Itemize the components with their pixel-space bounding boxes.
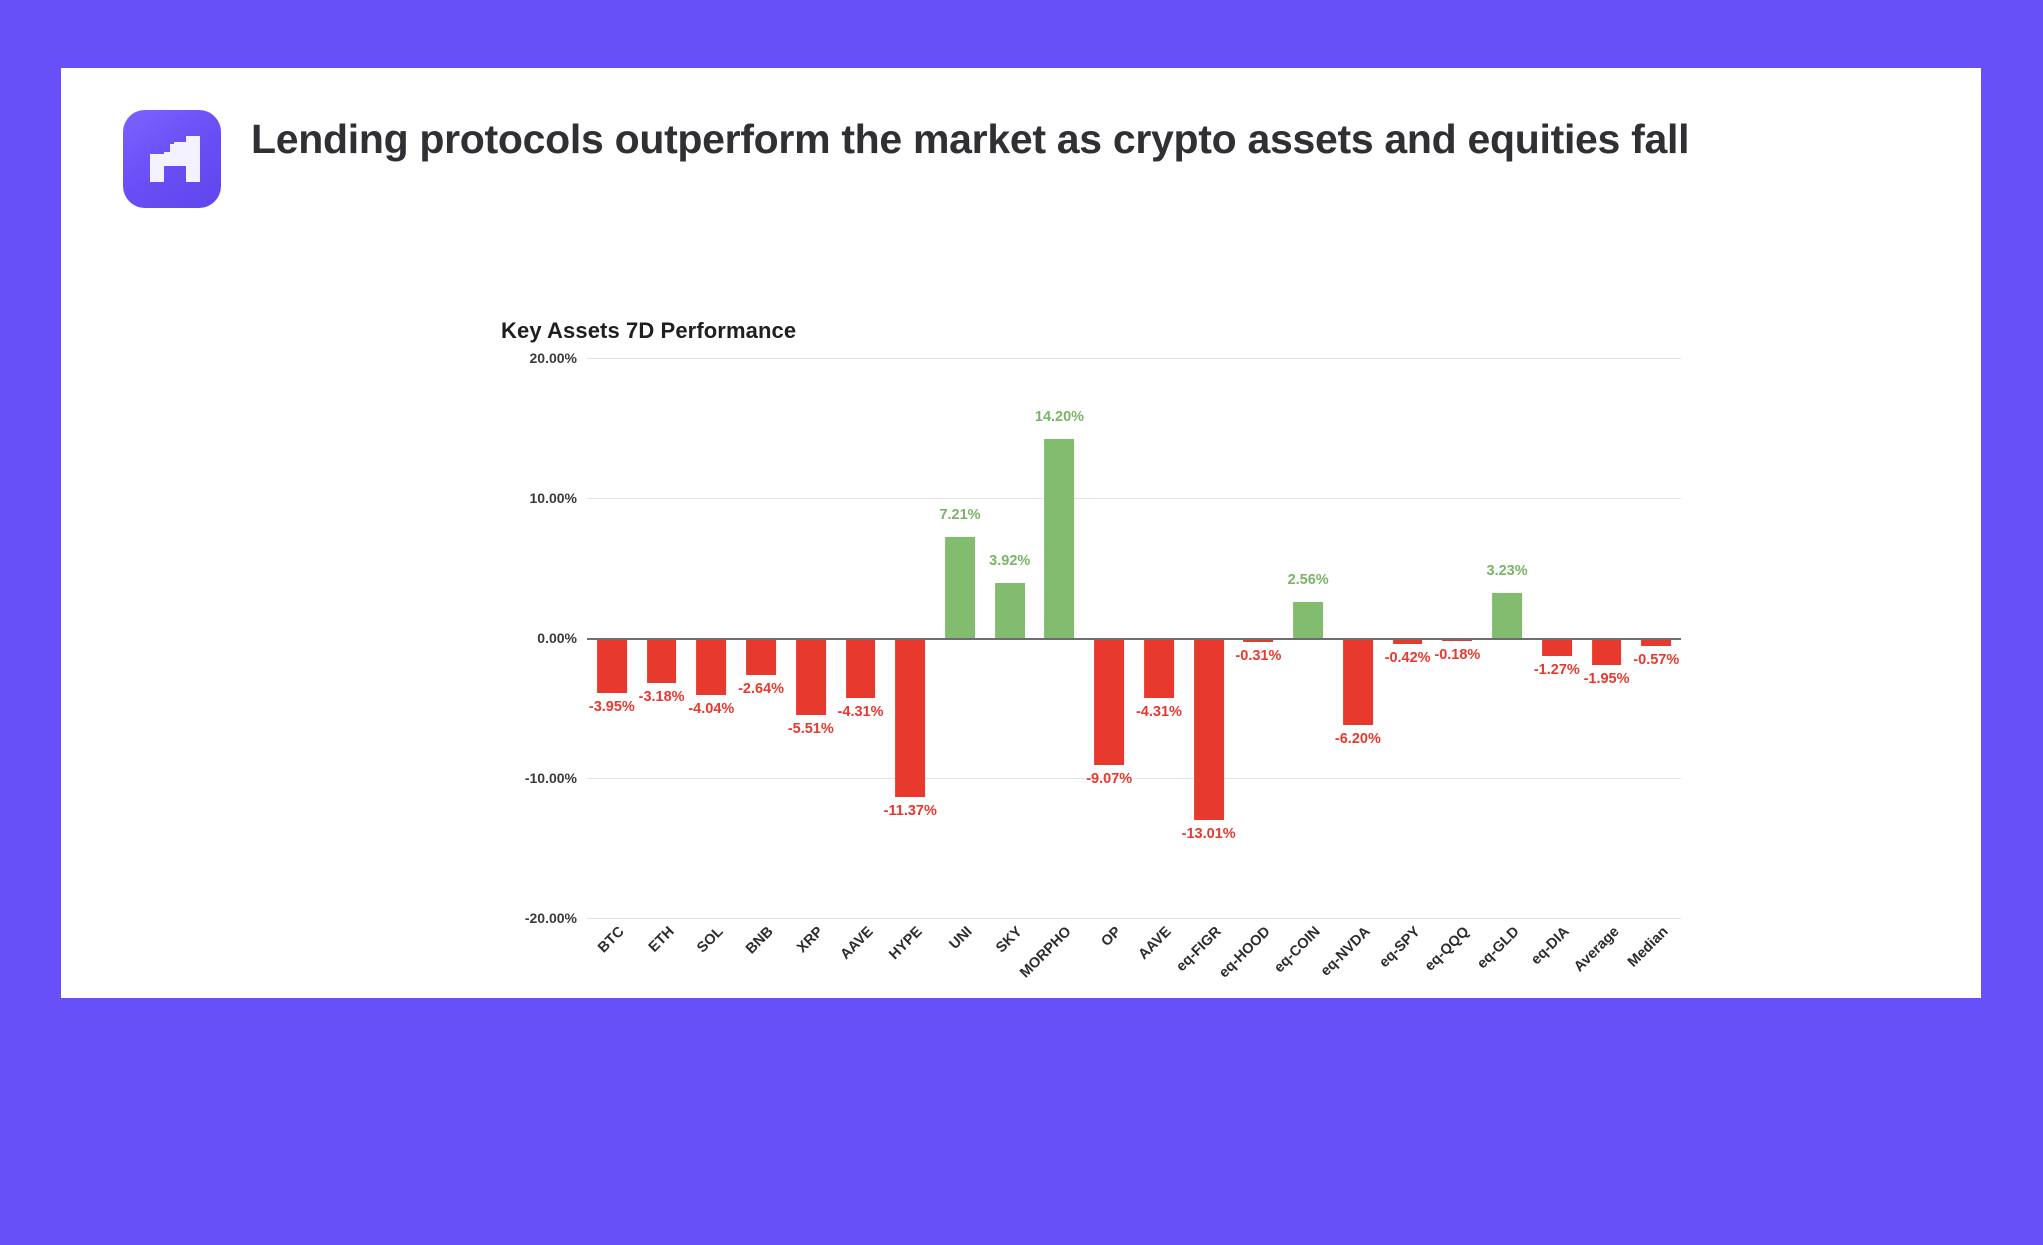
- bar-value-label: -0.18%: [1434, 647, 1480, 663]
- chart-plot-area: 20.00%10.00%0.00%-10.00%-20.00% -3.95%-3…: [501, 358, 1681, 918]
- x-axis-tick: eq-NVDA: [1333, 918, 1383, 1008]
- bar-value-label: 3.23%: [1487, 563, 1528, 579]
- bar-value-label: -3.18%: [639, 689, 685, 705]
- x-axis-tick: Average: [1582, 918, 1632, 1008]
- bar-value-label: -0.42%: [1385, 650, 1431, 666]
- aave-logo-icon: [123, 110, 221, 208]
- bar-eq-coin[interactable]: [1293, 602, 1323, 638]
- x-axis-tick: OP: [1084, 918, 1134, 1008]
- bar-value-label: -4.31%: [838, 704, 884, 720]
- bar-value-label: 2.56%: [1288, 572, 1329, 588]
- y-axis-tick-label: -20.00%: [501, 910, 577, 926]
- page-title: Lending protocols outperform the market …: [251, 110, 1689, 164]
- x-axis: BTCETHSOLBNBXRPAAVEHYPEUNISKYMORPHOOPAAV…: [587, 918, 1681, 1008]
- bar-value-label: -4.04%: [688, 701, 734, 717]
- y-axis-tick-label: 20.00%: [501, 350, 577, 366]
- x-axis-tick: ETH: [637, 918, 687, 1008]
- bar-hype[interactable]: [895, 638, 925, 797]
- chart-container: Key Assets 7D Performance 20.00%10.00%0.…: [501, 318, 1681, 958]
- bar-average[interactable]: [1592, 638, 1622, 665]
- bar-value-label: -9.07%: [1086, 771, 1132, 787]
- bar-value-label: -6.20%: [1335, 731, 1381, 747]
- bar-eth[interactable]: [647, 638, 677, 683]
- bar-eq-gld[interactable]: [1492, 593, 1522, 638]
- zero-axis-line: [587, 638, 1681, 640]
- y-axis-tick-label: 10.00%: [501, 490, 577, 506]
- bar-value-label: -3.95%: [589, 699, 635, 715]
- x-axis-tick: eq-GLD: [1482, 918, 1532, 1008]
- chart-title: Key Assets 7D Performance: [501, 318, 1681, 344]
- bar-aave[interactable]: [1144, 638, 1174, 698]
- bar-op[interactable]: [1094, 638, 1124, 765]
- bar-value-label: -5.51%: [788, 721, 834, 737]
- bar-value-label: -0.57%: [1633, 652, 1679, 668]
- y-axis-tick-label: 0.00%: [501, 630, 577, 646]
- bar-value-label: 14.20%: [1035, 409, 1084, 425]
- header: Lending protocols outperform the market …: [123, 110, 1843, 208]
- bar-sky[interactable]: [995, 583, 1025, 638]
- bar-xrp[interactable]: [796, 638, 826, 715]
- bar-eq-dia[interactable]: [1542, 638, 1572, 656]
- bar-bnb[interactable]: [746, 638, 776, 675]
- y-axis-tick-label: -10.00%: [501, 770, 577, 786]
- bar-value-label: -1.27%: [1534, 662, 1580, 678]
- x-axis-tick: XRP: [786, 918, 836, 1008]
- content-card: Lending protocols outperform the market …: [61, 68, 1981, 998]
- bar-value-label: 3.92%: [989, 553, 1030, 569]
- x-axis-tick: BTC: [587, 918, 637, 1008]
- bar-aave[interactable]: [846, 638, 876, 698]
- bar-value-label: -4.31%: [1136, 704, 1182, 720]
- bar-morpho[interactable]: [1045, 439, 1075, 638]
- x-axis-tick: AAVE: [836, 918, 886, 1008]
- bar-value-label: -11.37%: [884, 803, 937, 819]
- bar-value-label: -2.64%: [738, 681, 784, 697]
- bar-sol[interactable]: [696, 638, 726, 695]
- x-axis-tick: MORPHO: [1035, 918, 1085, 1008]
- bar-value-label: -13.01%: [1182, 826, 1236, 842]
- bar-eq-figr[interactable]: [1194, 638, 1224, 820]
- bar-value-label: -1.95%: [1584, 671, 1630, 687]
- bar-uni[interactable]: [945, 537, 975, 638]
- x-axis-tick: BNB: [736, 918, 786, 1008]
- bar-btc[interactable]: [597, 638, 627, 693]
- x-axis-tick: Median: [1631, 918, 1681, 1008]
- x-axis-tick: HYPE: [885, 918, 935, 1008]
- bar-eq-nvda[interactable]: [1343, 638, 1373, 725]
- x-axis-tick: UNI: [935, 918, 985, 1008]
- bar-value-label: 7.21%: [939, 507, 980, 523]
- x-axis-tick: SOL: [686, 918, 736, 1008]
- bar-value-label: -0.31%: [1235, 648, 1281, 664]
- x-axis-tick: eq-QQQ: [1432, 918, 1482, 1008]
